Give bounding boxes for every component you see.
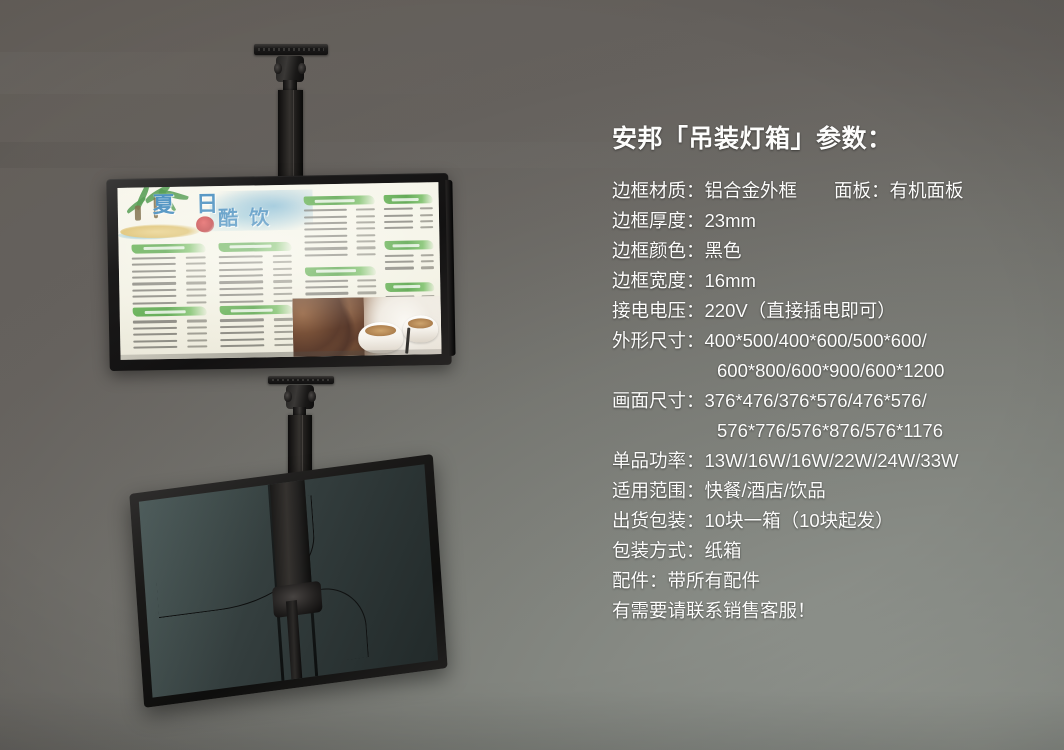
back-light-box[interactable] — [129, 454, 447, 708]
spec-line-label: 出货包装： — [612, 506, 705, 536]
menu-row — [132, 299, 206, 307]
spec-line: 边框颜色：黑色 — [612, 236, 1042, 266]
spec-line-value: 带所有配件 — [668, 566, 761, 596]
spec-line-value: 220V（直接插电即可） — [705, 296, 896, 326]
menu-section — [218, 242, 293, 305]
spec-line-value: 400*500/400*600/500*600/ — [705, 326, 927, 356]
light-box-frame: 夏 日 酷 饮 — [106, 173, 451, 371]
spec-line: 边框材质：铝合金外框 面板：有机面板 — [612, 176, 1042, 206]
spec-line-value: 纸箱 — [705, 536, 742, 566]
spec-line-list: 边框材质：铝合金外框 面板：有机面板边框厚度：23mm边框颜色：黑色边框宽度：1… — [612, 176, 1042, 626]
spec-line: 边框宽度：16mm — [612, 266, 1042, 296]
spec-line-label: 外形尺寸： — [612, 326, 705, 356]
coffee-beans-graphic — [293, 297, 365, 357]
spec-line-value: 600*800/600*900/600*1200 — [717, 356, 944, 386]
menu-section-header — [385, 241, 433, 251]
spec-line: 边框厚度：23mm — [612, 206, 1042, 236]
product-photo-canvas: 夏 日 酷 饮 — [0, 0, 1064, 750]
swivel-knuckle-icon — [276, 56, 304, 82]
menu-section — [132, 307, 207, 351]
spec-line: 有需要请联系销售客服！ — [612, 596, 1042, 626]
drop-pole — [278, 90, 303, 184]
menu-section-header — [384, 194, 432, 204]
back-frame — [129, 454, 447, 708]
menu-section-header — [305, 266, 376, 276]
spec-line-label: 边框宽度： — [612, 266, 705, 296]
spec-line-value: 13W/16W/16W/22W/24W/33W — [705, 446, 959, 476]
spec-line-value: 376*476/376*576/476*576/ — [705, 386, 927, 416]
spec-line-label: 边框厚度： — [612, 206, 705, 236]
hero-char-1: 夏 — [152, 195, 174, 217]
spec-panel: 安邦「吊装灯箱」参数： 边框材质：铝合金外框 面板：有机面板边框厚度：23mm边… — [612, 124, 1042, 626]
spec-line-value: 快餐/酒店/饮品 — [705, 476, 826, 506]
menu-section — [385, 241, 434, 272]
spec-line-label: 配件： — [612, 566, 668, 596]
menu-section — [384, 194, 433, 231]
spec-line-value: 黑色 — [705, 236, 742, 266]
menu-section — [219, 305, 294, 349]
spec-line: 出货包装：10块一箱（10块起发） — [612, 506, 1042, 536]
menu-section-header — [219, 305, 293, 315]
spec-line-label: 适用范围： — [612, 476, 705, 506]
spec-line: 配件：带所有配件 — [612, 566, 1042, 596]
poster-footer-strip — [120, 349, 441, 360]
front-light-box[interactable]: 夏 日 酷 饮 — [106, 173, 451, 371]
spec-line-value: 16mm — [705, 266, 756, 296]
menu-row — [220, 342, 294, 350]
menu-section-header — [132, 307, 206, 317]
menu-section — [304, 195, 376, 258]
menu-poster: 夏 日 酷 饮 — [117, 182, 441, 360]
spec-line: 600*800/600*900/600*1200 — [612, 356, 1042, 386]
spec-line-value: 23mm — [705, 206, 756, 236]
mount-plate — [268, 376, 334, 384]
spec-line-value: 铝合金外框 面板：有机面板 — [705, 176, 964, 206]
ceiling-plate — [254, 44, 328, 55]
coffee-cup-icon — [358, 322, 403, 353]
spec-line: 576*776/576*876/576*1176 — [612, 416, 1042, 446]
spec-line-value: 有需要请联系销售客服！ — [612, 596, 816, 626]
menu-section-header — [218, 242, 292, 252]
hero-char-3: 酷 — [218, 208, 238, 228]
spec-line-value: 576*776/576*876/576*1176 — [717, 416, 943, 446]
hero-char-2: 日 — [196, 194, 218, 216]
hero-berry-graphic — [196, 216, 214, 232]
spec-line: 单品功率：13W/16W/16W/22W/24W/33W — [612, 446, 1042, 476]
menu-section-header — [386, 282, 434, 292]
menu-row — [133, 343, 207, 351]
back-panel — [139, 464, 438, 697]
menu-row — [385, 264, 433, 271]
spec-line: 外形尺寸：400*500/400*600/500*600/ — [612, 326, 1042, 356]
menu-row — [385, 224, 433, 231]
menu-hero-title: 夏 日 酷 饮 — [149, 191, 305, 233]
spec-line-label: 单品功率： — [612, 446, 705, 476]
spec-line-label: 边框颜色： — [612, 236, 705, 266]
spec-line-value: 10块一箱（10块起发） — [705, 506, 894, 536]
spec-line-label: 接电电压： — [612, 296, 705, 326]
spec-line-label: 包装方式： — [612, 536, 705, 566]
menu-section-header — [131, 243, 205, 253]
spec-line-label: 画面尺寸： — [612, 386, 705, 416]
menu-row — [305, 251, 376, 259]
spec-line: 包装方式：纸箱 — [612, 536, 1042, 566]
menu-row — [219, 297, 293, 305]
coffee-photo — [293, 296, 442, 357]
light-box-panel: 夏 日 酷 饮 — [117, 182, 441, 360]
spec-line: 适用范围：快餐/酒店/饮品 — [612, 476, 1042, 506]
menu-section-header — [304, 195, 375, 205]
spec-title: 安邦「吊装灯箱」参数： — [612, 124, 1042, 154]
swivel-knuckle-icon — [286, 385, 314, 409]
poster-hero-art: 夏 日 酷 饮 — [117, 184, 317, 241]
spec-line: 画面尺寸：376*476/376*576/476*576/ — [612, 386, 1042, 416]
spec-line: 接电电压：220V（直接插电即可） — [612, 296, 1042, 326]
menu-section — [131, 243, 206, 306]
ceiling-mount-bracket — [236, 44, 346, 184]
hero-char-4: 饮 — [249, 207, 269, 227]
spec-line-label: 边框材质： — [612, 176, 705, 206]
